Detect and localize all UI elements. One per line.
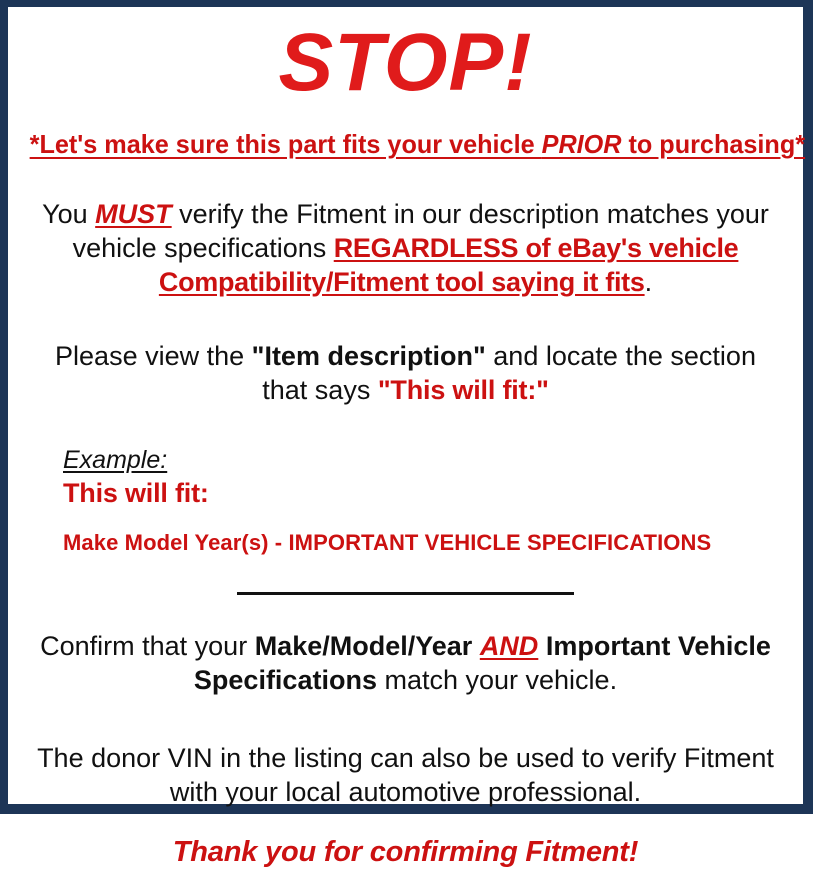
view-description-paragraph: Please view the "Item description" and l… [18, 339, 793, 407]
confirm-space-2 [538, 631, 546, 661]
must-paragraph-seg3: . [645, 267, 653, 297]
vin-paragraph: The donor VIN in the listing can also be… [18, 741, 793, 809]
and-emphasis: AND [480, 631, 539, 661]
example-fit-heading: This will fit: [63, 477, 793, 509]
confirm-paragraph-seg2: match your vehicle. [377, 665, 617, 695]
thank-you-message: Thank you for confirming Fitment! [18, 835, 793, 869]
notice-inner: STOP! *Let's make sure this part fits yo… [8, 7, 803, 804]
subtitle-trail-text: to purchasing* [621, 129, 805, 159]
example-label: Example: [63, 445, 167, 475]
subtitle-prior-emphasis: PRIOR [542, 129, 622, 159]
view-paragraph-seg1: Please view the [55, 341, 252, 371]
example-block: Example: This will fit: Make Model Year(… [18, 445, 793, 557]
item-description-emphasis: "Item description" [252, 341, 486, 371]
fitment-notice-card: STOP! *Let's make sure this part fits yo… [0, 0, 813, 814]
must-paragraph-seg1: You [42, 199, 95, 229]
must-emphasis: MUST [95, 199, 172, 229]
make-model-year-emphasis: Make/Model/Year [255, 631, 473, 661]
subtitle-banner: *Let's make sure this part fits your veh… [30, 129, 782, 159]
section-divider [237, 592, 574, 595]
subtitle-lead-text: *Let's make sure this part fits your veh… [30, 129, 542, 159]
example-spec-line: Make Model Year(s) - IMPORTANT VEHICLE S… [63, 529, 793, 557]
this-will-fit-quote: "This will fit:" [378, 375, 549, 405]
divider-wrap [18, 585, 793, 595]
confirm-paragraph-seg1: Confirm that your [40, 631, 255, 661]
page-title: STOP! [18, 7, 793, 111]
confirm-space-1 [472, 631, 480, 661]
example-label-row: Example: [63, 445, 793, 475]
confirm-paragraph: Confirm that your Make/Model/Year AND Im… [18, 629, 793, 697]
must-verify-paragraph: You MUST verify the Fitment in our descr… [18, 197, 793, 299]
